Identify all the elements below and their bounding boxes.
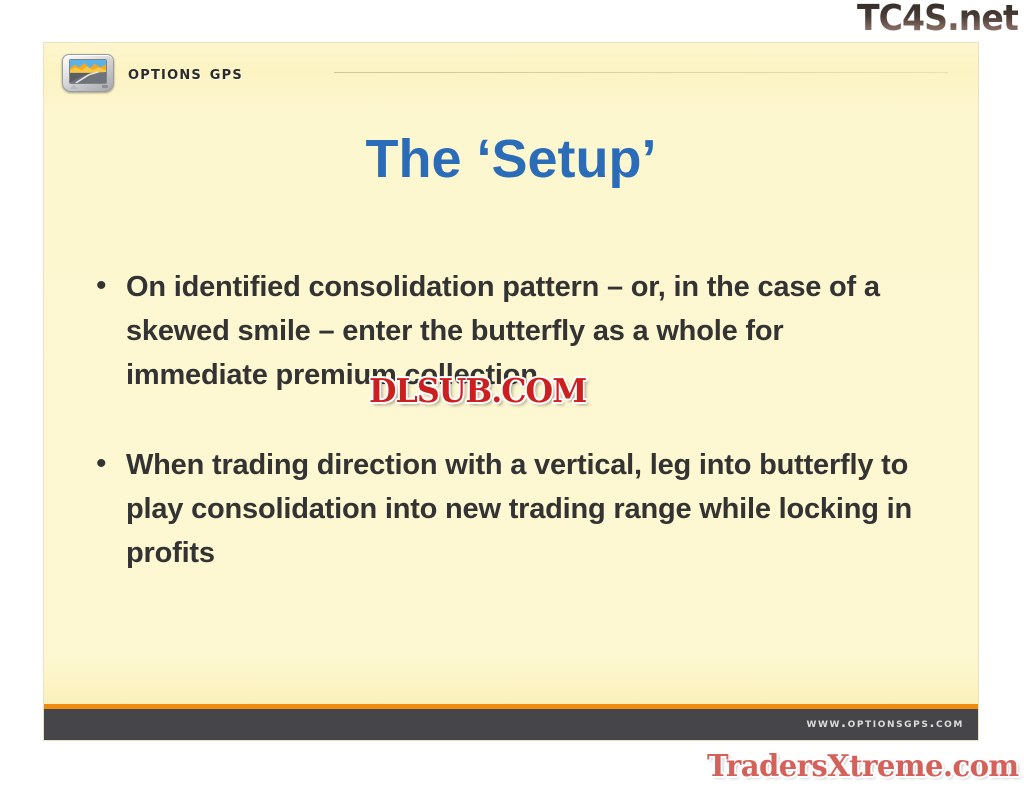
brand-name: Options GPS <box>128 62 243 84</box>
bullet-marker-icon: • <box>96 265 126 307</box>
footer-website-url: www.OptionsGPS.com <box>806 716 964 731</box>
bullet-item: • When trading direction with a vertical… <box>96 443 926 575</box>
slide-title: The ‘Setup’ <box>44 128 978 190</box>
gps-device-icon <box>62 54 114 92</box>
tradersxtreme-watermark: TradersXtreme.com <box>707 749 1019 784</box>
dlsub-overlay-watermark: DLSUB.COM <box>369 371 586 410</box>
slide-header: Options GPS <box>44 43 978 101</box>
slide-footer: www.OptionsGPS.com <box>44 704 978 740</box>
tc4s-site-watermark: TC4S.net <box>857 0 1018 39</box>
gps-screen <box>69 59 107 84</box>
bullet-text: When trading direction with a vertical, … <box>126 443 926 575</box>
gps-triangle-icon <box>70 84 78 89</box>
bullet-marker-icon: • <box>96 443 126 485</box>
slide-body: • On identified consolidation pattern – … <box>96 265 926 621</box>
brand-logo: Options GPS <box>62 53 243 93</box>
gps-button-icon <box>102 85 108 88</box>
header-divider <box>334 72 948 73</box>
